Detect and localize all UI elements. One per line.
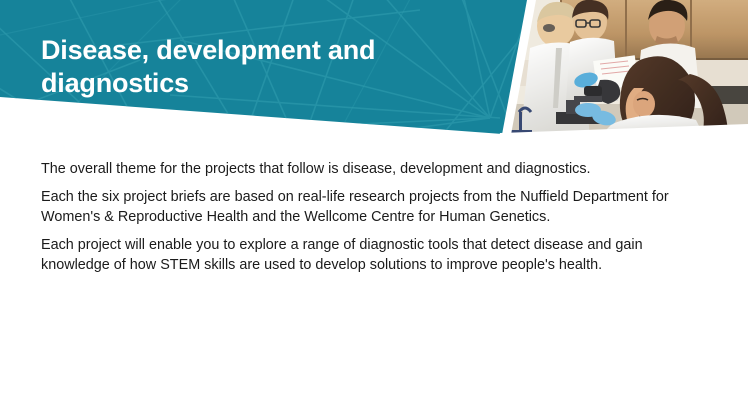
body-paragraph-3: Each project will enable you to explore … <box>41 236 693 275</box>
page-title: Disease, development and diagnostics <box>41 34 471 100</box>
lab-students-microscope-photo <box>500 0 748 140</box>
body-paragraph-2: Each the six project briefs are based on… <box>41 188 693 227</box>
body-paragraph-1: The overall theme for the projects that … <box>41 160 693 179</box>
body-copy: The overall theme for the projects that … <box>41 160 693 275</box>
slide-canvas: Disease, development and diagnostics The… <box>0 0 748 418</box>
header-banner: Disease, development and diagnostics <box>0 0 748 140</box>
